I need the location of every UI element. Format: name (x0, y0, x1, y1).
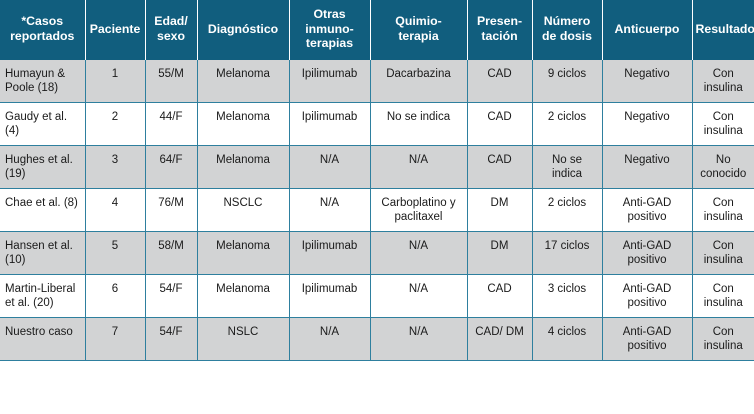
column-header-casos-reportados: *Casos reportados (0, 0, 85, 60)
cell-resultado: No conocido (692, 145, 754, 188)
table-container: *Casos reportados Paciente Edad/ sexo Di… (0, 0, 754, 414)
cell-anticuerpo: Anti-GAD positivo (602, 274, 692, 317)
table-row: Gaudy et al. (4) 2 44/F Melanoma Ipilimu… (0, 102, 754, 145)
cell-quimioterapia: Carboplatino y paclitaxel (370, 188, 467, 231)
cell-paciente: 2 (85, 102, 145, 145)
cell-otras-inmunoterapias: N/A (289, 317, 370, 360)
column-header-paciente: Paciente (85, 0, 145, 60)
cell-caso: Hansen et al. (10) (0, 231, 85, 274)
cell-quimioterapia: N/A (370, 231, 467, 274)
cell-diagnostico: Melanoma (197, 231, 289, 274)
cell-presentacion: CAD (467, 60, 532, 103)
cell-resultado: Con insulina (692, 317, 754, 360)
cell-anticuerpo: Anti-GAD positivo (602, 317, 692, 360)
cell-paciente: 4 (85, 188, 145, 231)
cell-edad-sexo: 64/F (145, 145, 197, 188)
cell-presentacion: DM (467, 231, 532, 274)
column-header-otras-inmunoterapias: Otras inmuno- terapias (289, 0, 370, 60)
cell-otras-inmunoterapias: Ipilimumab (289, 231, 370, 274)
cell-numero-dosis: 9 ciclos (532, 60, 602, 103)
cell-caso: Martin-Liberal et al. (20) (0, 274, 85, 317)
cell-numero-dosis: 3 ciclos (532, 274, 602, 317)
column-header-diagnostico: Diagnóstico (197, 0, 289, 60)
cell-resultado: Con insulina (692, 188, 754, 231)
column-header-numero-de-dosis: Número de dosis (532, 0, 602, 60)
cell-presentacion: CAD (467, 145, 532, 188)
table-row: Hansen et al. (10) 5 58/M Melanoma Ipili… (0, 231, 754, 274)
cell-anticuerpo: Anti-GAD positivo (602, 231, 692, 274)
table-row: Hughes et al. (19) 3 64/F Melanoma N/A N… (0, 145, 754, 188)
column-header-presentacion: Presen- tación (467, 0, 532, 60)
cell-edad-sexo: 54/F (145, 317, 197, 360)
cell-otras-inmunoterapias: N/A (289, 145, 370, 188)
cell-otras-inmunoterapias: Ipilimumab (289, 274, 370, 317)
cell-numero-dosis: 17 ciclos (532, 231, 602, 274)
table-row: Chae et al. (8) 4 76/M NSCLC N/A Carbopl… (0, 188, 754, 231)
table-row: Nuestro caso 7 54/F NSLC N/A N/A CAD/ DM… (0, 317, 754, 360)
cell-otras-inmunoterapias: Ipilimumab (289, 102, 370, 145)
table-header: *Casos reportados Paciente Edad/ sexo Di… (0, 0, 754, 60)
cell-quimioterapia: Dacarbazina (370, 60, 467, 103)
table-header-row: *Casos reportados Paciente Edad/ sexo Di… (0, 0, 754, 60)
cell-diagnostico: NSLC (197, 317, 289, 360)
cell-numero-dosis: 4 ciclos (532, 317, 602, 360)
cell-caso: Hughes et al. (19) (0, 145, 85, 188)
cell-edad-sexo: 76/M (145, 188, 197, 231)
table-body: Humayun & Poole (18) 1 55/M Melanoma Ipi… (0, 60, 754, 361)
cell-presentacion: CAD (467, 274, 532, 317)
column-header-quimioterapia: Quimio- terapia (370, 0, 467, 60)
cell-otras-inmunoterapias: Ipilimumab (289, 60, 370, 103)
cell-anticuerpo: Negativo (602, 145, 692, 188)
cell-resultado: Con insulina (692, 102, 754, 145)
cell-caso: Nuestro caso (0, 317, 85, 360)
cell-caso: Humayun & Poole (18) (0, 60, 85, 103)
cell-paciente: 7 (85, 317, 145, 360)
cell-diagnostico: Melanoma (197, 60, 289, 103)
column-header-resultado: Resultado (692, 0, 754, 60)
cell-numero-dosis: No se indica (532, 145, 602, 188)
cell-quimioterapia: No se indica (370, 102, 467, 145)
cell-anticuerpo: Negativo (602, 102, 692, 145)
reported-cases-table: *Casos reportados Paciente Edad/ sexo Di… (0, 0, 754, 361)
cell-presentacion: CAD/ DM (467, 317, 532, 360)
cell-numero-dosis: 2 ciclos (532, 188, 602, 231)
cell-diagnostico: Melanoma (197, 274, 289, 317)
cell-edad-sexo: 58/M (145, 231, 197, 274)
cell-diagnostico: Melanoma (197, 102, 289, 145)
cell-diagnostico: Melanoma (197, 145, 289, 188)
cell-diagnostico: NSCLC (197, 188, 289, 231)
cell-edad-sexo: 55/M (145, 60, 197, 103)
cell-otras-inmunoterapias: N/A (289, 188, 370, 231)
cell-quimioterapia: N/A (370, 145, 467, 188)
cell-resultado: Con insulina (692, 60, 754, 103)
cell-quimioterapia: N/A (370, 317, 467, 360)
cell-presentacion: DM (467, 188, 532, 231)
column-header-anticuerpo: Anticuerpo (602, 0, 692, 60)
cell-anticuerpo: Anti-GAD positivo (602, 188, 692, 231)
cell-resultado: Con insulina (692, 274, 754, 317)
cell-paciente: 1 (85, 60, 145, 103)
cell-edad-sexo: 54/F (145, 274, 197, 317)
cell-edad-sexo: 44/F (145, 102, 197, 145)
cell-numero-dosis: 2 ciclos (532, 102, 602, 145)
cell-caso: Gaudy et al. (4) (0, 102, 85, 145)
cell-presentacion: CAD (467, 102, 532, 145)
cell-paciente: 3 (85, 145, 145, 188)
cell-paciente: 6 (85, 274, 145, 317)
cell-resultado: Con insulina (692, 231, 754, 274)
column-header-edad-sexo: Edad/ sexo (145, 0, 197, 60)
cell-paciente: 5 (85, 231, 145, 274)
cell-caso: Chae et al. (8) (0, 188, 85, 231)
table-row: Humayun & Poole (18) 1 55/M Melanoma Ipi… (0, 60, 754, 103)
table-row: Martin-Liberal et al. (20) 6 54/F Melano… (0, 274, 754, 317)
cell-anticuerpo: Negativo (602, 60, 692, 103)
cell-quimioterapia: N/A (370, 274, 467, 317)
